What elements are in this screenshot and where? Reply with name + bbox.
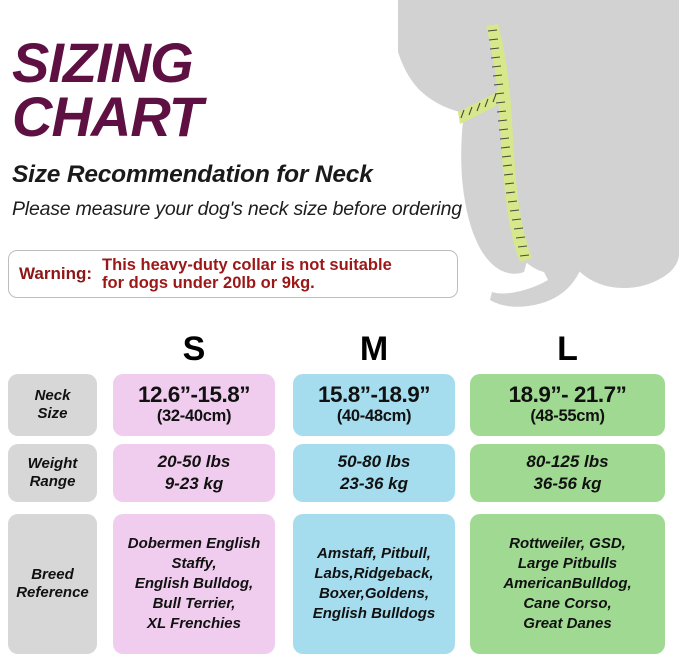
weight-range-cell-m: 50-80 lbs 23-36 kg (293, 444, 455, 502)
measure-instruction: Please measure your dog's neck size befo… (0, 189, 470, 221)
neck-size-s-inches: 12.6”-15.8” (138, 383, 250, 407)
warning-box: Warning: This heavy-duty collar is not s… (8, 250, 458, 298)
page-title: SIZING CHART (0, 0, 470, 145)
size-header-s: S (113, 332, 275, 366)
page-subtitle: Size Recommendation for Neck (0, 145, 470, 189)
weight-range-m-text: 50-80 lbs 23-36 kg (338, 451, 411, 496)
size-header-row: S M L (0, 332, 679, 366)
row-label-weight-range: Weight Range (8, 444, 97, 502)
weight-range-l-text: 80-125 lbs 36-56 kg (526, 451, 608, 496)
breed-reference-cell-s: Dobermen English Staffy, English Bulldog… (113, 514, 275, 654)
breed-reference-s-text: Dobermen English Staffy, English Bulldog… (124, 534, 265, 634)
neck-size-l-cm: (48-55cm) (530, 407, 604, 427)
neck-size-cell-s: 12.6”-15.8” (32-40cm) (113, 374, 275, 436)
warning-message: This heavy-duty collar is not suitable f… (102, 256, 392, 293)
neck-size-s-cm: (32-40cm) (157, 407, 231, 427)
table-row-neck-size: Neck Size 12.6”-15.8” (32-40cm) 15.8”-18… (0, 370, 679, 442)
size-header-l: L (470, 332, 665, 366)
weight-range-s-text: 20-50 lbs 9-23 kg (158, 451, 231, 496)
breed-reference-l-text: Rottweiler, GSD, Large Pitbulls American… (499, 534, 635, 634)
breed-reference-m-text: Amstaff, Pitbull, Labs,Ridgeback, Boxer,… (309, 544, 440, 624)
neck-size-l-inches: 18.9”- 21.7” (509, 383, 627, 407)
sizing-table: Neck Size 12.6”-15.8” (32-40cm) 15.8”-18… (0, 370, 679, 656)
weight-range-cell-l: 80-125 lbs 36-56 kg (470, 444, 665, 502)
breed-reference-cell-m: Amstaff, Pitbull, Labs,Ridgeback, Boxer,… (293, 514, 455, 654)
neck-size-cell-m: 15.8”-18.9” (40-48cm) (293, 374, 455, 436)
neck-size-m-inches: 15.8”-18.9” (318, 383, 430, 407)
header-block: SIZING CHART Size Recommendation for Nec… (0, 0, 470, 221)
table-row-weight-range: Weight Range 20-50 lbs 9-23 kg 50-80 lbs… (0, 442, 679, 514)
table-row-breed-reference: Breed Reference Dobermen English Staffy,… (0, 514, 679, 656)
weight-range-cell-s: 20-50 lbs 9-23 kg (113, 444, 275, 502)
row-label-neck-size: Neck Size (8, 374, 97, 436)
warning-label: Warning: (19, 264, 102, 284)
neck-size-cell-l: 18.9”- 21.7” (48-55cm) (470, 374, 665, 436)
breed-reference-cell-l: Rottweiler, GSD, Large Pitbulls American… (470, 514, 665, 654)
neck-size-m-cm: (40-48cm) (337, 407, 411, 427)
size-header-m: M (293, 332, 455, 366)
row-label-breed-reference: Breed Reference (8, 514, 97, 654)
